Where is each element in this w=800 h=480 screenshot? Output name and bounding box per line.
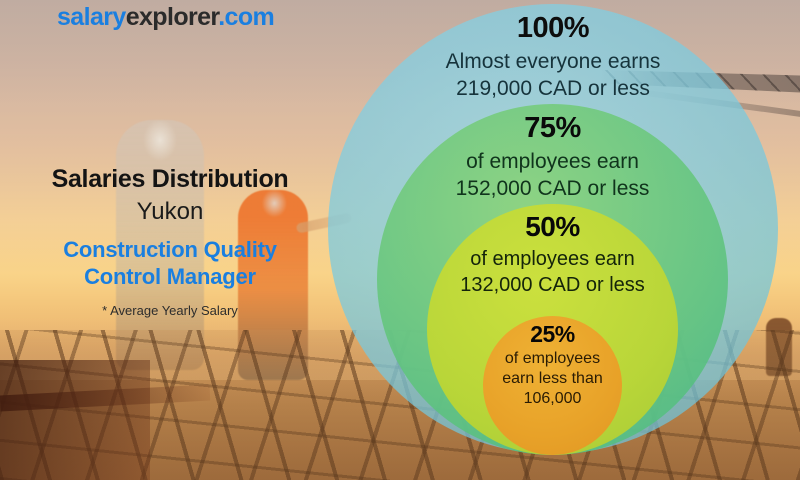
bubble-100-line-2: 219,000 CAD or less (328, 75, 778, 102)
bubble-25-text: 25% of employees earn less than 106,000 (483, 316, 622, 409)
percentile-bubble-25: 25% of employees earn less than 106,000 (483, 316, 622, 455)
bubble-50-text: 50% of employees earn 132,000 CAD or les… (427, 204, 678, 299)
bubble-50-line-1: of employees earn (427, 246, 678, 272)
bubble-25-line-1: of employees (483, 349, 622, 369)
bubble-100-line-1: Almost everyone earns (328, 48, 778, 75)
infographic-page: salaryexplorer.com Salaries Distribution… (0, 0, 800, 480)
bubble-100-percent: 100% (328, 10, 778, 48)
bubble-25-line-3: 106,000 (483, 389, 622, 409)
bubble-75-line-2: 152,000 CAD or less (377, 175, 728, 202)
bubble-100-text: 100% Almost everyone earns 219,000 CAD o… (328, 4, 778, 102)
bubble-25-line-2: earn less than (483, 369, 622, 389)
bubble-75-line-1: of employees earn (377, 148, 728, 175)
bubble-50-percent: 50% (427, 209, 678, 246)
bubble-50-line-2: 132,000 CAD or less (427, 272, 678, 298)
salary-distribution-chart: 100% Almost everyone earns 219,000 CAD o… (0, 0, 800, 480)
bubble-75-percent: 75% (377, 110, 728, 148)
bubble-75-text: 75% of employees earn 152,000 CAD or les… (377, 104, 728, 202)
bubble-25-percent: 25% (483, 320, 622, 349)
